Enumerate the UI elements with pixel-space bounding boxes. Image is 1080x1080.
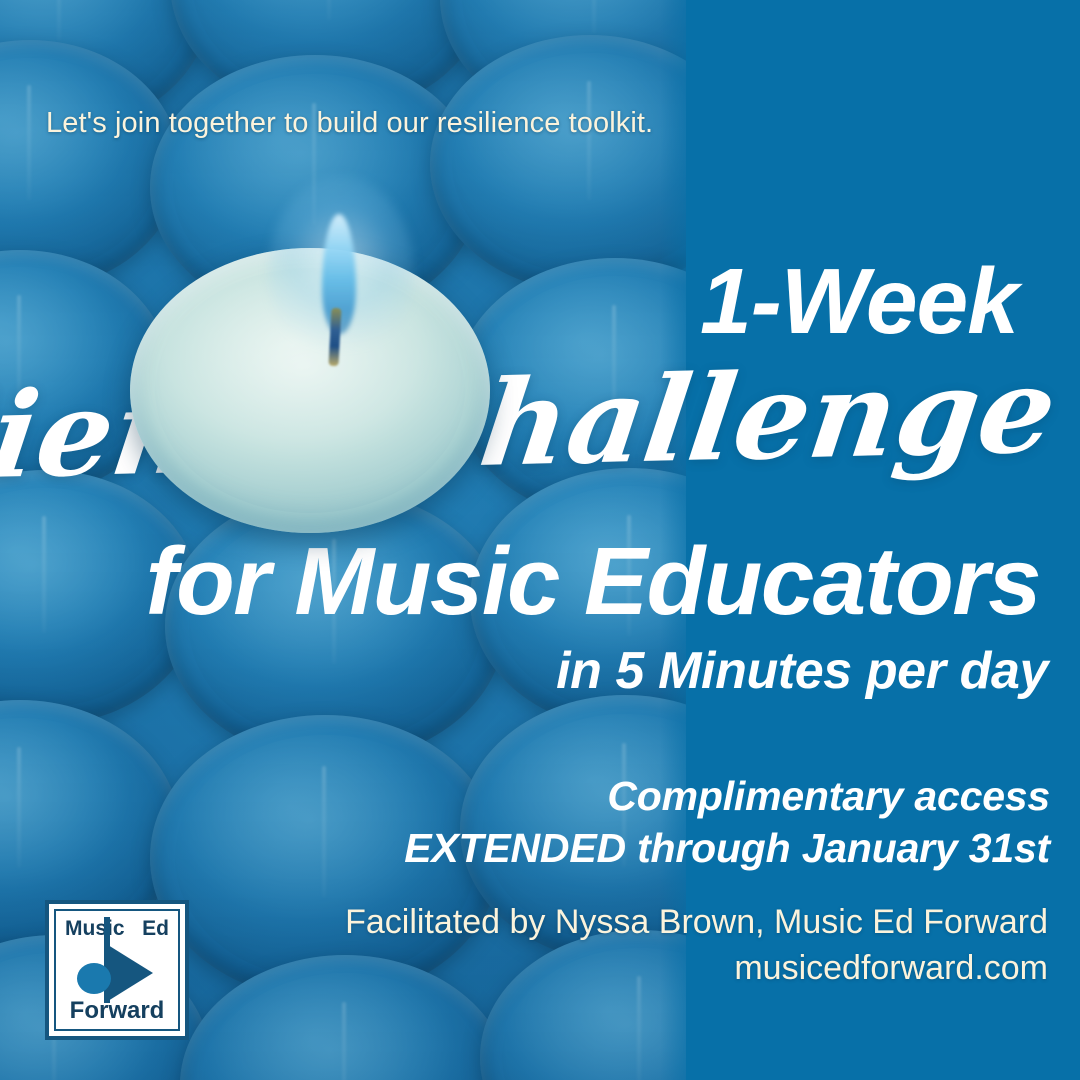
poster-content: Let's join together to build our resilie… xyxy=(0,0,1080,1080)
logo-inner-frame: Music Ed Forward xyxy=(54,909,180,1031)
headline-audience: for Music Educators xyxy=(146,534,1040,630)
credit-website[interactable]: musicedforward.com xyxy=(345,946,1048,992)
music-ed-forward-logo[interactable]: Music Ed Forward xyxy=(45,900,189,1040)
cta-block: Complimentary access EXTENDED through Ja… xyxy=(404,770,1050,875)
credit-facilitator: Facilitated by Nyssa Brown, Music Ed For… xyxy=(345,900,1048,946)
credit-block: Facilitated by Nyssa Brown, Music Ed For… xyxy=(345,900,1048,991)
cta-line-1: Complimentary access xyxy=(404,770,1050,822)
headline-eyebrow: 1-Week xyxy=(700,255,1018,348)
cta-line-2: EXTENDED through January 31st xyxy=(404,822,1050,874)
note-head-icon xyxy=(77,963,111,994)
logo-word-forward: Forward xyxy=(56,999,178,1023)
promo-poster: Let's join together to build our resilie… xyxy=(0,0,1080,1080)
forward-arrow-icon xyxy=(108,945,153,1001)
headline-duration: in 5 Minutes per day xyxy=(556,645,1048,697)
tagline: Let's join together to build our resilie… xyxy=(46,107,653,140)
